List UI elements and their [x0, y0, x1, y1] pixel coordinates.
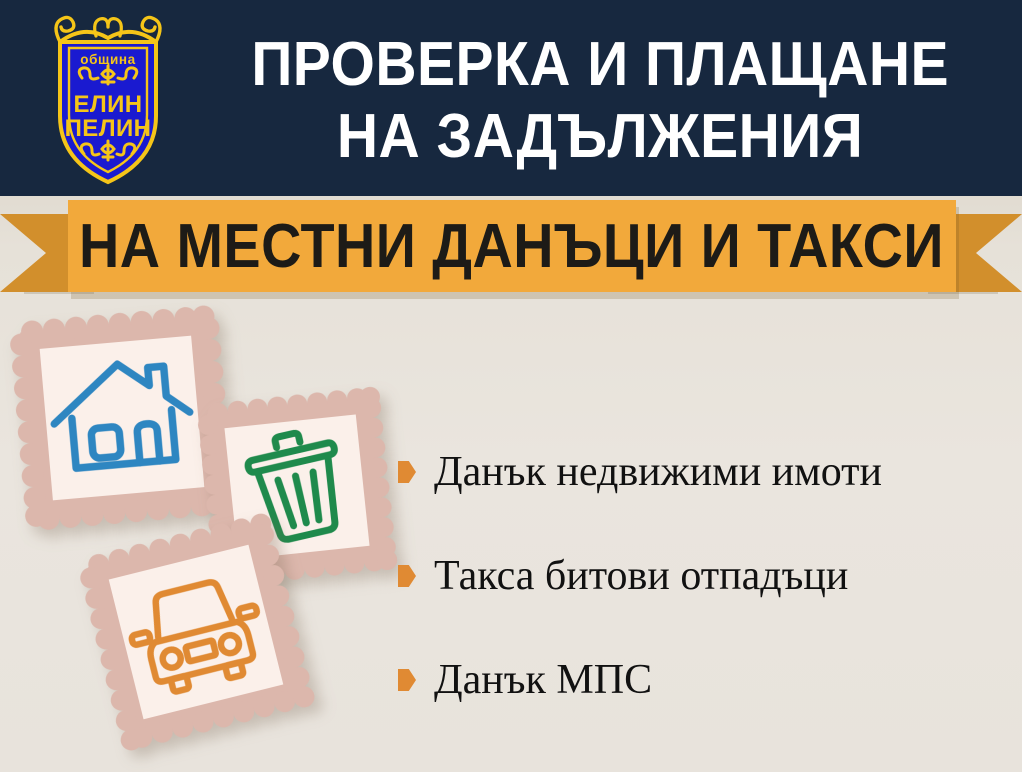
poster-canvas: община ЕЛИН ПЕЛИН ПРОВЕРКА И ПЛАЩ — [0, 0, 1022, 772]
page-title-line-2: НА ЗАДЪЛЖЕНИЯ — [337, 101, 863, 173]
svg-text:ЕЛИН: ЕЛИН — [73, 91, 142, 118]
page-title: ПРОВЕРКА И ПЛАЩАНЕ НА ЗАДЪЛЖЕНИЯ — [180, 16, 1020, 186]
svg-text:ПЕЛИН: ПЕЛИН — [65, 115, 152, 142]
list-item-label: Данък МПС — [434, 659, 652, 701]
bullet-arrow-icon — [398, 669, 416, 691]
bullet-arrow-icon — [398, 461, 416, 483]
subtitle-ribbon: НА МЕСТНИ ДАНЪЦИ И ТАКСИ — [0, 196, 1022, 308]
list-item-label: Данък недвижими имоти — [434, 451, 882, 493]
tax-type-list: Данък недвижими имоти Такса битови отпад… — [398, 420, 1008, 732]
bullet-arrow-icon — [398, 565, 416, 587]
municipality-logo: община ЕЛИН ПЕЛИН — [42, 8, 174, 188]
ribbon-banner: НА МЕСТНИ ДАНЪЦИ И ТАКСИ — [68, 200, 956, 292]
list-item[interactable]: Данък МПС — [398, 628, 1008, 732]
page-title-line-1: ПРОВЕРКА И ПЛАЩАНЕ — [251, 29, 949, 101]
list-item[interactable]: Такса битови отпадъци — [398, 524, 1008, 628]
ribbon-label: НА МЕСТНИ ДАНЪЦИ И ТАКСИ — [80, 211, 945, 282]
list-item-label: Такса битови отпадъци — [434, 555, 848, 597]
list-item[interactable]: Данък недвижими имоти — [398, 420, 1008, 524]
